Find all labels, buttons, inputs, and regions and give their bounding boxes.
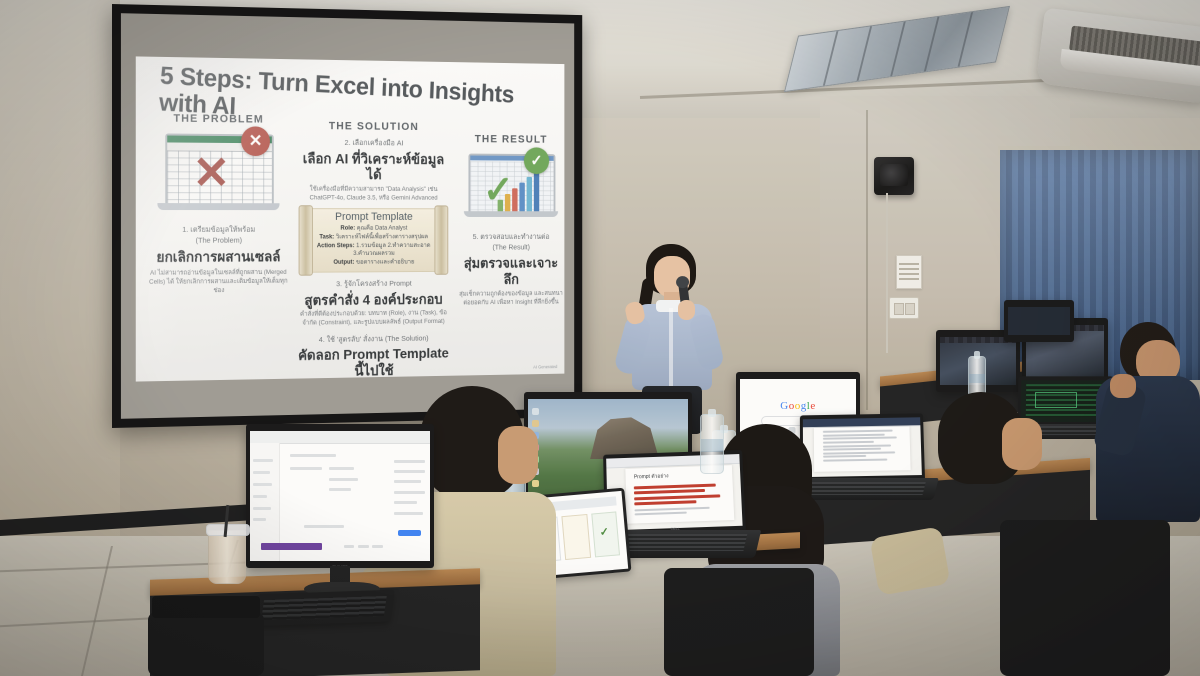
wall-speaker-icon xyxy=(874,157,914,195)
prompt-template-title: Prompt Template xyxy=(312,211,435,223)
step1-paren: (The Problem) xyxy=(146,235,291,246)
presenter-placket xyxy=(669,308,673,386)
error-badge-icon: ✕ xyxy=(241,126,270,156)
step3-headline: สูตรคำสั่ง 4 องค์ประกอบ xyxy=(297,291,450,309)
google-logo: Google xyxy=(780,400,815,412)
monitor-far-right-3[interactable] xyxy=(1004,300,1074,342)
water-bottle-center-2[interactable] xyxy=(700,414,724,474)
step1-number: 1. เตรียมข้อมูลให้พร้อม xyxy=(146,225,291,236)
chair-left xyxy=(148,612,264,676)
red-x-mark-icon: ✕ xyxy=(193,150,230,196)
prompt-actions-text: 1.รวมข้อมูล 2.ทำความสะอาด 3.คำนวณผลรวม xyxy=(353,242,430,258)
monitor-left[interactable]: PHILIPS xyxy=(246,424,434,568)
coffee-cup-lid xyxy=(206,524,250,536)
step5-number: 5. ตรวจสอบและทำงานต่อ xyxy=(457,232,564,242)
wall-notice xyxy=(896,255,922,289)
step1-headline: ยกเลิกการผสานเซลล์ xyxy=(146,248,291,265)
power-socket xyxy=(889,297,919,319)
wall-corner xyxy=(866,110,868,410)
wall-cable xyxy=(886,193,888,353)
laptop-doc-heading: Prompt ตัวอย่าง xyxy=(634,473,669,482)
step5-paren: (The Result) xyxy=(457,242,564,252)
slide-column-result: THE RESULT ✓ ✓ xyxy=(457,133,564,308)
step5-headline: สุ่มตรวจและเจาะลึก xyxy=(457,255,564,287)
iced-coffee-cup[interactable] xyxy=(208,530,246,584)
illustration-excel-error: ✕ ✕ xyxy=(157,133,279,215)
column-header-solution: THE SOLUTION xyxy=(297,120,450,133)
left-wall xyxy=(0,0,120,560)
projection-screen: 5 Steps: Turn Excel into Insights with A… xyxy=(112,4,582,428)
column-header-result: THE RESULT xyxy=(457,133,564,145)
step4-number: 4. ใช้ 'สูตรลับ' สั่งงาน (The Solution) xyxy=(297,333,450,345)
step2-number: 2. เลือกเครื่องมือ AI xyxy=(297,138,450,149)
prompt-output-label: Output: xyxy=(333,259,354,266)
prompt-role-text: คุณคือ Data Analyst xyxy=(357,225,408,232)
chair-center xyxy=(664,568,814,676)
green-check-mark-icon: ✓ xyxy=(483,171,513,209)
keyboard-left[interactable] xyxy=(253,590,394,627)
slide-column-solution: THE SOLUTION 2. เลือกเครื่องมือ AI เลือก… xyxy=(297,120,450,380)
prompt-output-text: ขอตารางและคำอธิบาย xyxy=(356,259,414,266)
step5-detail: สุ่มเช็กความถูกต้องของข้อมูล และสนทนาต่อ… xyxy=(457,289,564,308)
closed-laptop-left[interactable] xyxy=(152,596,260,618)
step3-detail: คำสั่งที่ดีต้องประกอบด้วย: บทบาท (Role),… xyxy=(297,308,450,328)
step1-detail: AI ไม่สามารถอ่านข้อมูลในเซลล์ที่ถูกผสาน … xyxy=(146,267,291,296)
prompt-actions-label: Action Steps: xyxy=(317,242,355,249)
step3-number: 3. รู้จักโครงสร้าง Prompt xyxy=(297,279,450,290)
prompt-task-text: วิเคราะห์ไฟล์นี้เพื่อสร้างตารางสรุปผล xyxy=(336,233,428,240)
column-header-problem: THE PROBLEM xyxy=(146,112,291,125)
prompt-role-label: Role: xyxy=(341,225,356,232)
slide-column-problem: THE PROBLEM ✕ ✕ 1. เตรียมข้อมูลให้พร้อม … xyxy=(146,112,291,296)
success-badge-icon: ✓ xyxy=(524,147,549,174)
training-room-photo: 5 Steps: Turn Excel into Insights with A… xyxy=(0,0,1200,676)
presenter-right-hand xyxy=(678,300,695,320)
step2-detail: ใช้เครื่องมือที่มีความสามารถ "Data Analy… xyxy=(297,184,450,202)
chair-right xyxy=(1000,520,1170,676)
illustration-chart-success: ✓ ✓ xyxy=(464,154,558,223)
step2-headline: เลือก AI ที่วิเคราะห์ข้อมูลได้ xyxy=(297,150,450,183)
attendee-back-right xyxy=(1096,322,1200,522)
slide-watermark: AI Generated xyxy=(533,364,557,369)
step4-headline: คัดลอก Prompt Template นี้ไปใช้ xyxy=(297,345,450,380)
prompt-task-label: Task: xyxy=(319,233,334,240)
slide-content: 5 Steps: Turn Excel into Insights with A… xyxy=(136,56,565,381)
prompt-template-scroll: Prompt Template Role: คุณคือ Data Analys… xyxy=(297,208,450,273)
